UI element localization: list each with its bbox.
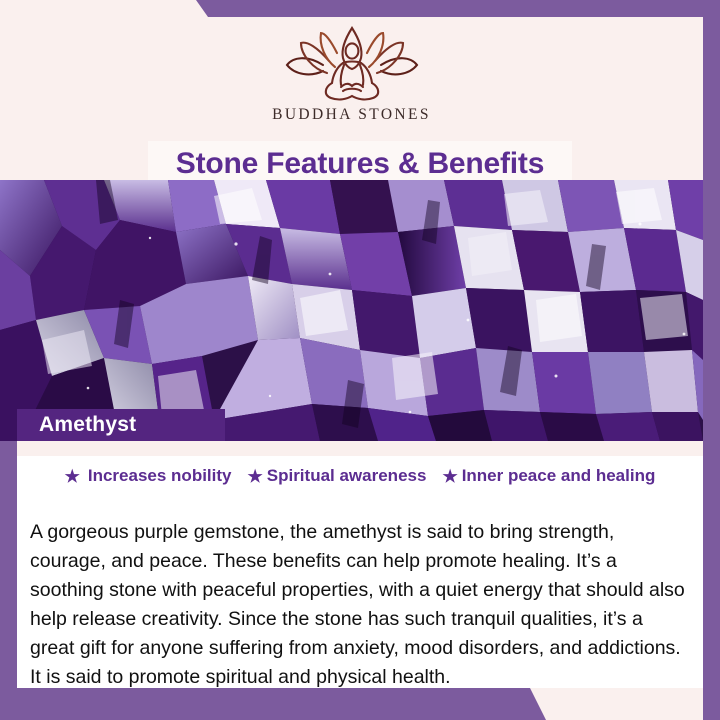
feature-label: Spiritual awareness	[267, 466, 427, 486]
top-purple-band	[0, 0, 720, 17]
stone-description: A gorgeous purple gemstone, the amethyst…	[30, 518, 690, 692]
star-icon: ★	[442, 468, 457, 485]
stone-benefits-poster: BUDDHA STONES Stone Features & Benefits	[0, 0, 720, 720]
feature-list: ★ Increases nobility ★ Spiritual awarene…	[17, 466, 703, 486]
star-icon: ★	[248, 468, 263, 485]
lotus-meditation-icon	[277, 25, 427, 103]
feature-label: Increases nobility	[88, 466, 232, 486]
feature-label: Inner peace and healing	[462, 466, 656, 486]
bottom-purple-band	[0, 688, 720, 720]
panel-top-strip	[17, 441, 703, 456]
star-icon: ★	[65, 468, 80, 485]
page-title: Stone Features & Benefits	[148, 147, 572, 181]
stone-name: Amethyst	[39, 413, 136, 437]
left-purple-band	[0, 441, 17, 720]
brand-logo: BUDDHA STONES	[0, 25, 703, 124]
feature-item-inner-peace-and-healing: ★ Inner peace and healing	[442, 466, 655, 486]
header: BUDDHA STONES Stone Features & Benefits	[0, 17, 703, 180]
amethyst-crystal-cluster-photo	[0, 180, 703, 441]
right-purple-band	[703, 0, 720, 720]
feature-item-spiritual-awareness: ★ Spiritual awareness	[248, 466, 427, 486]
feature-item-increases-nobility: ★ Increases nobility	[65, 466, 232, 486]
brand-name: BUDDHA STONES	[0, 106, 703, 124]
stone-name-banner: Amethyst	[17, 409, 225, 441]
